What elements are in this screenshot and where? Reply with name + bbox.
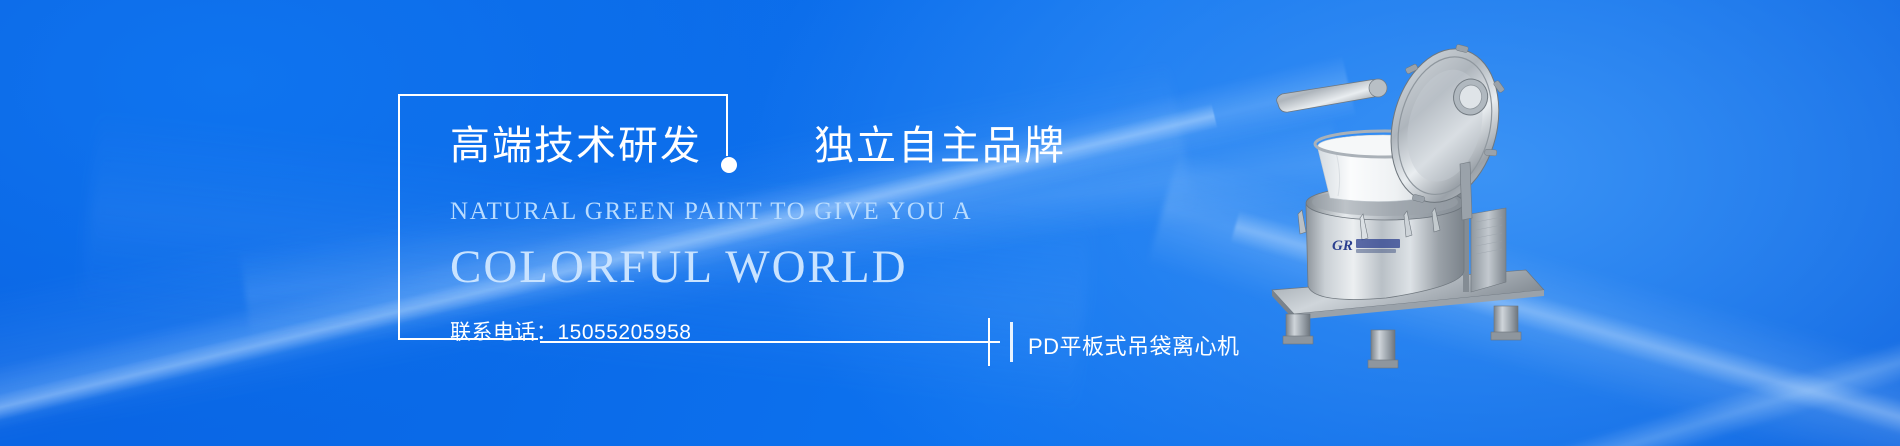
svg-text:GR: GR xyxy=(1332,238,1353,254)
hero-banner: 高端技术研发 独立自主品牌 NATURAL GREEN PAINT TO GIV… xyxy=(0,0,1900,446)
machine-brand-logo: GR xyxy=(1332,238,1400,254)
frame-top-edge xyxy=(398,94,728,96)
product-caption: PD平板式吊袋离心机 xyxy=(1028,329,1240,361)
headline-right-text: 独立自主品牌 xyxy=(814,126,1066,166)
machine-hinge-post xyxy=(1460,162,1472,220)
headline-left-text: 高端技术研发 xyxy=(450,126,702,166)
caption-accent-bar xyxy=(1010,322,1013,362)
headline: 高端技术研发 独立自主品牌 xyxy=(450,126,1066,166)
caption-leader-line xyxy=(540,341,1000,343)
tagline-text: NATURAL GREEN PAINT TO GIVE YOU A xyxy=(450,198,1066,226)
machine-handle xyxy=(1277,79,1387,112)
product-image-centrifuge: GR xyxy=(1258,18,1588,418)
frame-left-edge xyxy=(398,94,400,340)
copy-block: 高端技术研发 独立自主品牌 NATURAL GREEN PAINT TO GIV… xyxy=(450,126,1066,346)
caption-leader-tick xyxy=(988,318,990,366)
colorful-world-text: COLORFUL WORLD xyxy=(450,240,1066,294)
